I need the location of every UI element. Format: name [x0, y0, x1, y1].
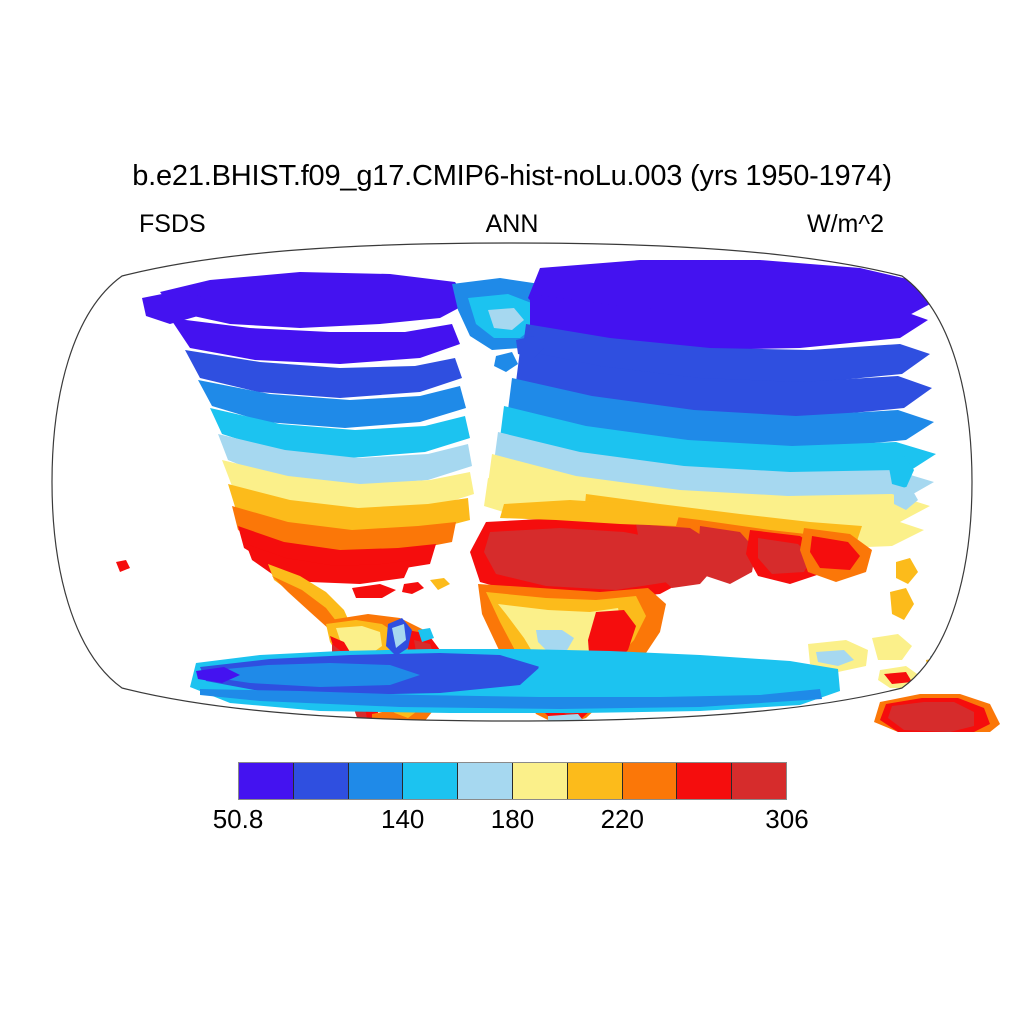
figure-canvas: b.e21.BHIST.f09_g17.CMIP6-hist-noLu.003 … — [0, 0, 1024, 1024]
landmass-australia — [874, 694, 1000, 732]
colorbar-swatches — [238, 762, 787, 800]
world-map — [0, 232, 1024, 732]
colorbar-tick-label: 50.8 — [213, 804, 264, 835]
colorbar-cell — [732, 763, 786, 799]
map-svg — [0, 232, 1024, 732]
colorbar-cell — [458, 763, 513, 799]
colorbar-cell — [568, 763, 623, 799]
colorbar-tick-labels: 50.8140180220306 — [0, 804, 1024, 844]
colorbar-cell — [349, 763, 404, 799]
colorbar-cell — [623, 763, 678, 799]
colorbar-tick-label: 220 — [601, 804, 644, 835]
colorbar-tick-label: 306 — [765, 804, 808, 835]
colorbar-tick-label: 180 — [491, 804, 534, 835]
colorbar: 50.8140180220306 — [0, 756, 1024, 856]
colorbar-cell — [677, 763, 732, 799]
colorbar-cell — [403, 763, 458, 799]
colorbar-cell — [513, 763, 568, 799]
page-title: b.e21.BHIST.f09_g17.CMIP6-hist-noLu.003 … — [0, 160, 1024, 193]
colorbar-tick-label: 140 — [381, 804, 424, 835]
colorbar-cell — [239, 763, 294, 799]
colorbar-cell — [294, 763, 349, 799]
